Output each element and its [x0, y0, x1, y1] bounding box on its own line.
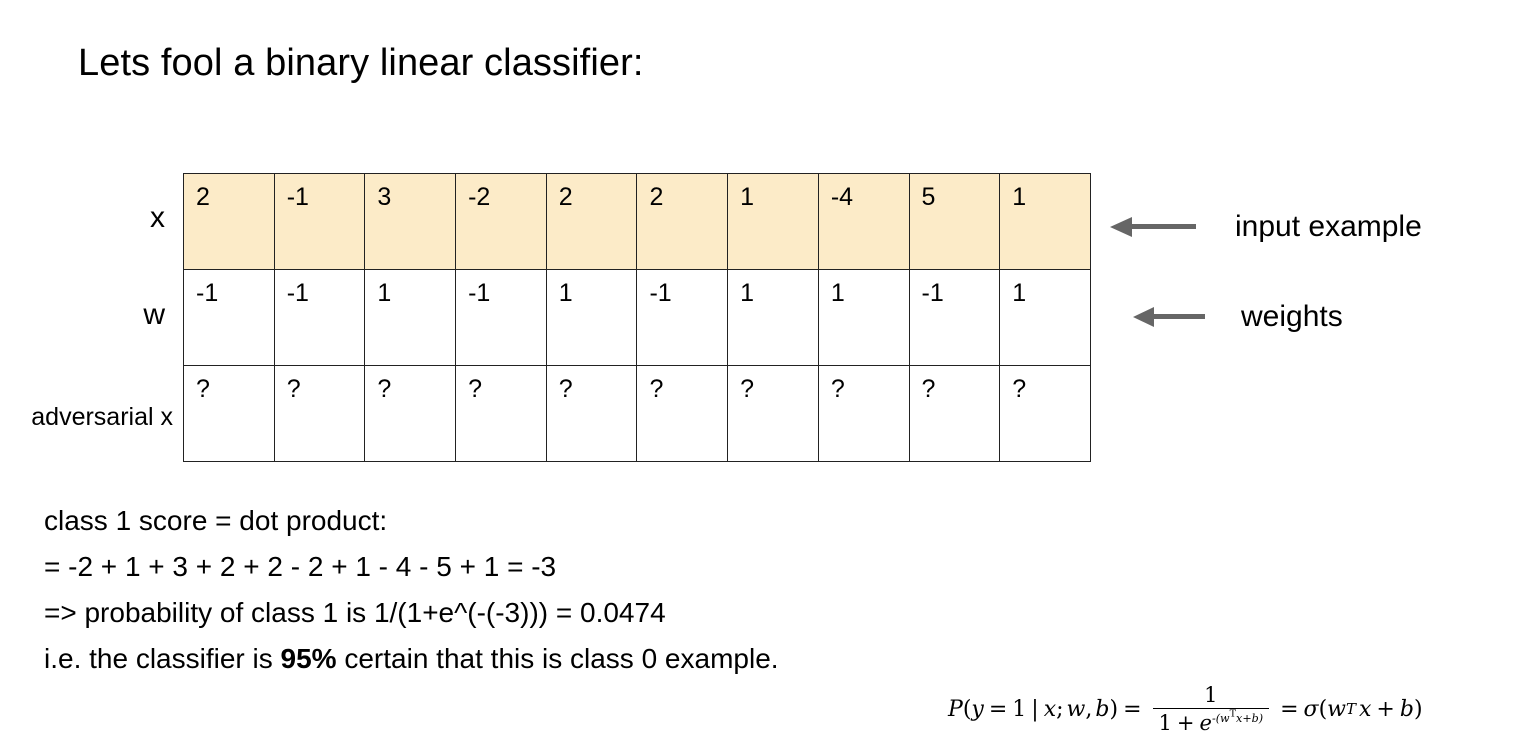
formula-rhs-plus: + [1371, 697, 1399, 722]
formula-y: y [971, 697, 983, 722]
callout-input-example-label: input example [1235, 210, 1422, 244]
table-cell: ? [909, 366, 1000, 462]
explanation-line-1: class 1 score = dot product: [44, 498, 779, 544]
formula-x: x [1044, 697, 1056, 722]
table-cell: ? [728, 366, 819, 462]
table-cell: ? [184, 366, 275, 462]
table-cell: ? [456, 366, 547, 462]
table-cell: -1 [184, 270, 275, 366]
formula-numerator: 1 [1196, 683, 1225, 708]
table-cell: ? [365, 366, 456, 462]
explanation-line-2: = -2 + 1 + 3 + 2 + 2 - 2 + 1 - 4 - 5 + 1… [44, 544, 779, 590]
explanation-text: class 1 score = dot product: = -2 + 1 + … [44, 498, 779, 682]
formula-exp-rest: x+b) [1236, 712, 1263, 725]
row-label-x: x [0, 203, 165, 233]
table-cell: 1 [818, 270, 909, 366]
row-label-w: w [0, 300, 165, 330]
formula-rhs-w: w [1327, 697, 1346, 722]
table-cell: -1 [274, 270, 365, 366]
table-cell: 1 [728, 270, 819, 366]
table-cell: ? [546, 366, 637, 462]
table-row-w: -1 -1 1 -1 1 -1 1 1 -1 1 [184, 270, 1091, 366]
arrow-left-icon [1133, 306, 1205, 328]
formula-fraction: 1 1+e-(wTx+b) [1153, 683, 1270, 735]
explanation-line-4-suffix: certain that this is class 0 example. [337, 643, 779, 674]
formula-den-e: e [1200, 711, 1212, 735]
slide-canvas: Lets fool a binary linear classifier: x … [0, 0, 1518, 746]
formula-b: b [1095, 697, 1109, 722]
certainty-percent: 95% [281, 643, 337, 674]
explanation-line-3: => probability of class 1 is 1/(1+e^(-(-… [44, 590, 779, 636]
table-cell: 1 [728, 174, 819, 270]
arrow-left-icon [1110, 216, 1196, 238]
formula-rhs-close: ) [1414, 697, 1423, 722]
row-label-adversarial-x: adversarial x [0, 402, 173, 432]
sigmoid-formula: P(y=1|x;w,b)= 1 1+e-(wTx+b) =σ(wTx+b) [948, 683, 1423, 735]
table-cell: 1 [546, 270, 637, 366]
table-cell: -1 [456, 270, 547, 366]
table-cell: -1 [637, 270, 728, 366]
explanation-line-4: i.e. the classifier is 95% certain that … [44, 636, 779, 682]
table-cell: ? [1000, 366, 1091, 462]
page-title: Lets fool a binary linear classifier: [78, 40, 644, 86]
formula-semicolon: ; [1056, 697, 1063, 722]
formula-equals-3: = [1275, 697, 1303, 722]
formula-den-exponent: -(wTx+b) [1212, 710, 1263, 726]
table-cell: 5 [909, 174, 1000, 270]
table-cell: 1 [1000, 270, 1091, 366]
table-cell: 1 [365, 270, 456, 366]
table-cell: 2 [546, 174, 637, 270]
formula-exp-base: -(w [1212, 712, 1230, 725]
table-row-x: 2 -1 3 -2 2 2 1 -4 5 1 [184, 174, 1091, 270]
formula-equals-2: = [1118, 697, 1146, 722]
table-cell: 2 [184, 174, 275, 270]
formula-denominator: 1+e-(wTx+b) [1153, 709, 1270, 735]
table-cell: -1 [909, 270, 1000, 366]
formula-sigma: σ [1304, 697, 1319, 722]
formula-one: 1 [1012, 697, 1026, 722]
formula-given-bar: | [1026, 697, 1043, 722]
values-table: 2 -1 3 -2 2 2 1 -4 5 1 -1 -1 1 -1 1 -1 1… [183, 173, 1091, 462]
table-cell: -4 [818, 174, 909, 270]
table-cell: 3 [365, 174, 456, 270]
formula-rhs-b: b [1400, 697, 1414, 722]
table-cell: ? [637, 366, 728, 462]
formula-den-plus: + [1172, 711, 1200, 735]
formula-rhs-open: ( [1319, 697, 1328, 722]
formula-equals-1: = [984, 697, 1012, 722]
table-cell: 2 [637, 174, 728, 270]
formula-p: P [948, 697, 963, 722]
formula-close-paren: ) [1109, 697, 1118, 722]
formula-den-one: 1 [1159, 711, 1172, 735]
table-cell: ? [274, 366, 365, 462]
explanation-line-4-prefix: i.e. the classifier is [44, 643, 281, 674]
formula-rhs-x: x [1359, 697, 1371, 722]
formula-w: w [1067, 697, 1086, 722]
table-cell: -2 [456, 174, 547, 270]
callout-weights-label: weights [1241, 300, 1343, 334]
callout-input-example: input example [1110, 210, 1422, 244]
table-cell: 1 [1000, 174, 1091, 270]
table-cell: ? [818, 366, 909, 462]
table-row-adversarial-x: ? ? ? ? ? ? ? ? ? ? [184, 366, 1091, 462]
table-cell: -1 [274, 174, 365, 270]
callout-weights: weights [1133, 300, 1343, 334]
formula-comma: , [1085, 697, 1092, 722]
